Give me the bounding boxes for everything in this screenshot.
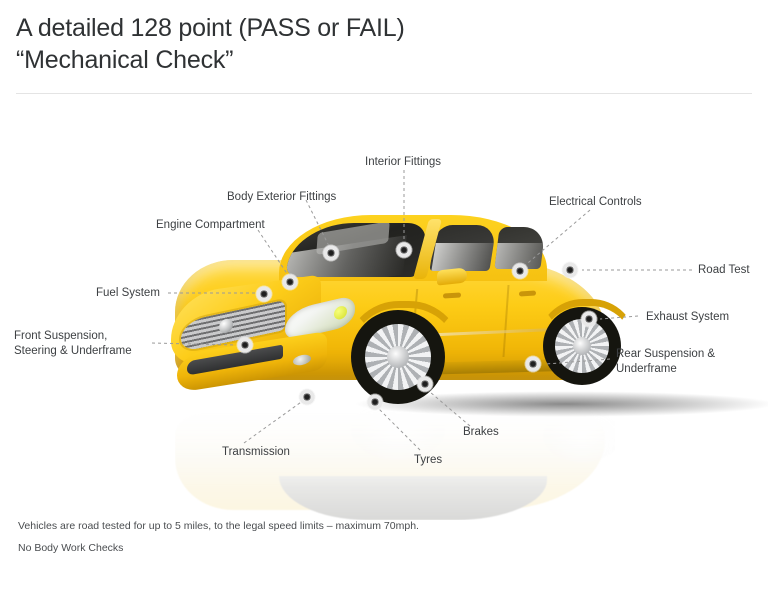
hotspot-rear-suspension[interactable]	[525, 356, 542, 373]
header-divider	[16, 93, 752, 94]
leader-front-suspension	[152, 343, 236, 345]
hotspot-fuel-system[interactable]	[256, 286, 273, 303]
leader-engine-compartment	[258, 230, 290, 278]
label-transmission[interactable]: Transmission	[222, 445, 290, 460]
label-body-exterior[interactable]: Body Exterior Fittings	[227, 190, 336, 205]
page-title-line-1: A detailed 128 point (PASS or FAIL)	[16, 12, 752, 44]
label-engine-compartment[interactable]: Engine Compartment	[156, 218, 265, 233]
leader-exhaust-system	[600, 316, 638, 319]
infographic-page: A detailed 128 point (PASS or FAIL) “Mec…	[0, 0, 768, 596]
hotspot-engine-compartment[interactable]	[282, 274, 299, 291]
hotspot-interior-fittings[interactable]	[396, 242, 413, 259]
leader-brakes	[430, 392, 470, 426]
leader-tyres	[378, 408, 420, 450]
hotspot-body-exterior[interactable]	[323, 245, 340, 262]
label-brakes[interactable]: Brakes	[463, 425, 499, 440]
leader-body-exterior	[306, 200, 331, 250]
hotspot-brakes[interactable]	[417, 376, 434, 393]
car-diagram: Interior Fittings Body Exterior Fittings…	[0, 100, 768, 500]
footer-note-road-test: Vehicles are road tested for up to 5 mil…	[18, 515, 738, 537]
hotspot-tyres[interactable]	[367, 394, 384, 411]
hotspot-exhaust-system[interactable]	[581, 311, 598, 328]
label-fuel-system[interactable]: Fuel System	[96, 286, 160, 301]
hotspot-front-suspension[interactable]	[237, 337, 254, 354]
leader-electrical-controls	[522, 210, 590, 268]
leader-rear-suspension	[546, 359, 610, 364]
hotspot-electrical-controls[interactable]	[512, 263, 529, 280]
hotspot-road-test[interactable]	[562, 262, 579, 279]
footer-note-body-work: No Body Work Checks	[18, 537, 738, 559]
label-electrical-controls[interactable]: Electrical Controls	[549, 195, 642, 210]
page-header: A detailed 128 point (PASS or FAIL) “Mec…	[16, 12, 752, 76]
label-road-test[interactable]: Road Test	[698, 263, 750, 278]
label-rear-suspension[interactable]: Rear Suspension & Underframe	[616, 347, 726, 377]
label-front-suspension[interactable]: Front Suspension, Steering & Underframe	[14, 329, 146, 359]
footer-notes: Vehicles are road tested for up to 5 mil…	[18, 515, 738, 559]
label-exhaust-system[interactable]: Exhaust System	[646, 310, 729, 325]
hotspot-transmission[interactable]	[299, 389, 316, 406]
page-title-line-2: “Mechanical Check”	[16, 44, 752, 76]
label-tyres[interactable]: Tyres	[414, 453, 442, 468]
leader-transmission	[244, 400, 304, 443]
label-interior-fittings[interactable]: Interior Fittings	[365, 155, 441, 170]
